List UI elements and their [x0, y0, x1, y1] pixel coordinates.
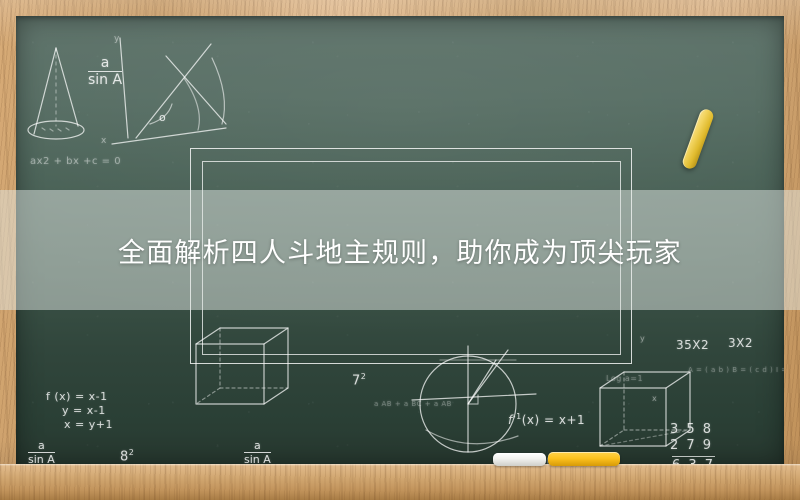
eight-exponent: 2 [129, 448, 135, 457]
yellow-chalk-stick [548, 452, 620, 466]
function-line-3: x = y+1 [64, 418, 113, 431]
quadratic-equation: ax2 + bx +c = 0 [30, 156, 121, 167]
label-35x2: 35X2 [676, 338, 709, 352]
cone-drawing [28, 48, 84, 139]
page-title: 全面解析四人斗地主规则，助你成为顶尖玩家 [0, 190, 800, 310]
log-a-label: Log a=1 [606, 374, 643, 383]
seven-squared: 72 [352, 372, 366, 388]
circle-axis-label-x: x [652, 394, 657, 403]
angle-label-o: o [159, 111, 166, 124]
axis-label-x-topleft: x [101, 136, 107, 146]
white-chalk-stick [493, 453, 546, 466]
matrix-expression: A = ( a b ) B = ( c d ) I = ( 1 0 ) [688, 366, 784, 374]
banner-image: a sin A y x o ax2 + bx +c = 0 f (x) = x-… [0, 0, 800, 500]
addition-row-2: 2 7 9 [670, 438, 713, 453]
seven-exponent: 2 [361, 372, 367, 381]
eight-squared: 82 [120, 448, 134, 464]
eight-base: 8 [120, 449, 129, 464]
faint-expression: a AB + a BC + a AB [374, 400, 452, 408]
inverse-function-expression: f-1(x) = x+1 [508, 412, 585, 427]
function-line-1: f (x) = x-1 [46, 390, 108, 403]
seven-base: 7 [352, 373, 361, 388]
chalk-ledge [0, 464, 800, 500]
formula-a-over-sinA-bottomleft-1: a sin A [28, 440, 55, 465]
label-3x2: 3X2 [728, 336, 753, 350]
inverse-superscript: -1 [513, 412, 522, 421]
page-title-text: 全面解析四人斗地主规则，助你成为顶尖玩家 [118, 231, 682, 270]
fraction-denominator: sin A [88, 73, 122, 87]
formula-a-over-sinA-topleft: a sin A [88, 56, 122, 87]
yellow-chalk-stick-tilted [681, 107, 715, 170]
formula-a-over-sinA-bottomleft-2: a sin A [244, 440, 271, 465]
circle-axis-label-y: y [640, 334, 645, 343]
angle-diagram [112, 38, 226, 144]
function-line-2: y = x-1 [62, 404, 106, 417]
fraction-numerator: a [254, 440, 261, 451]
fraction-numerator: a [38, 440, 45, 451]
inverse-fn-rest: (x) = x+1 [522, 413, 585, 427]
fraction-numerator: a [101, 56, 110, 70]
addition-row-1: 3 5 8 [670, 422, 713, 437]
axis-label-y-topleft: y [114, 34, 120, 44]
